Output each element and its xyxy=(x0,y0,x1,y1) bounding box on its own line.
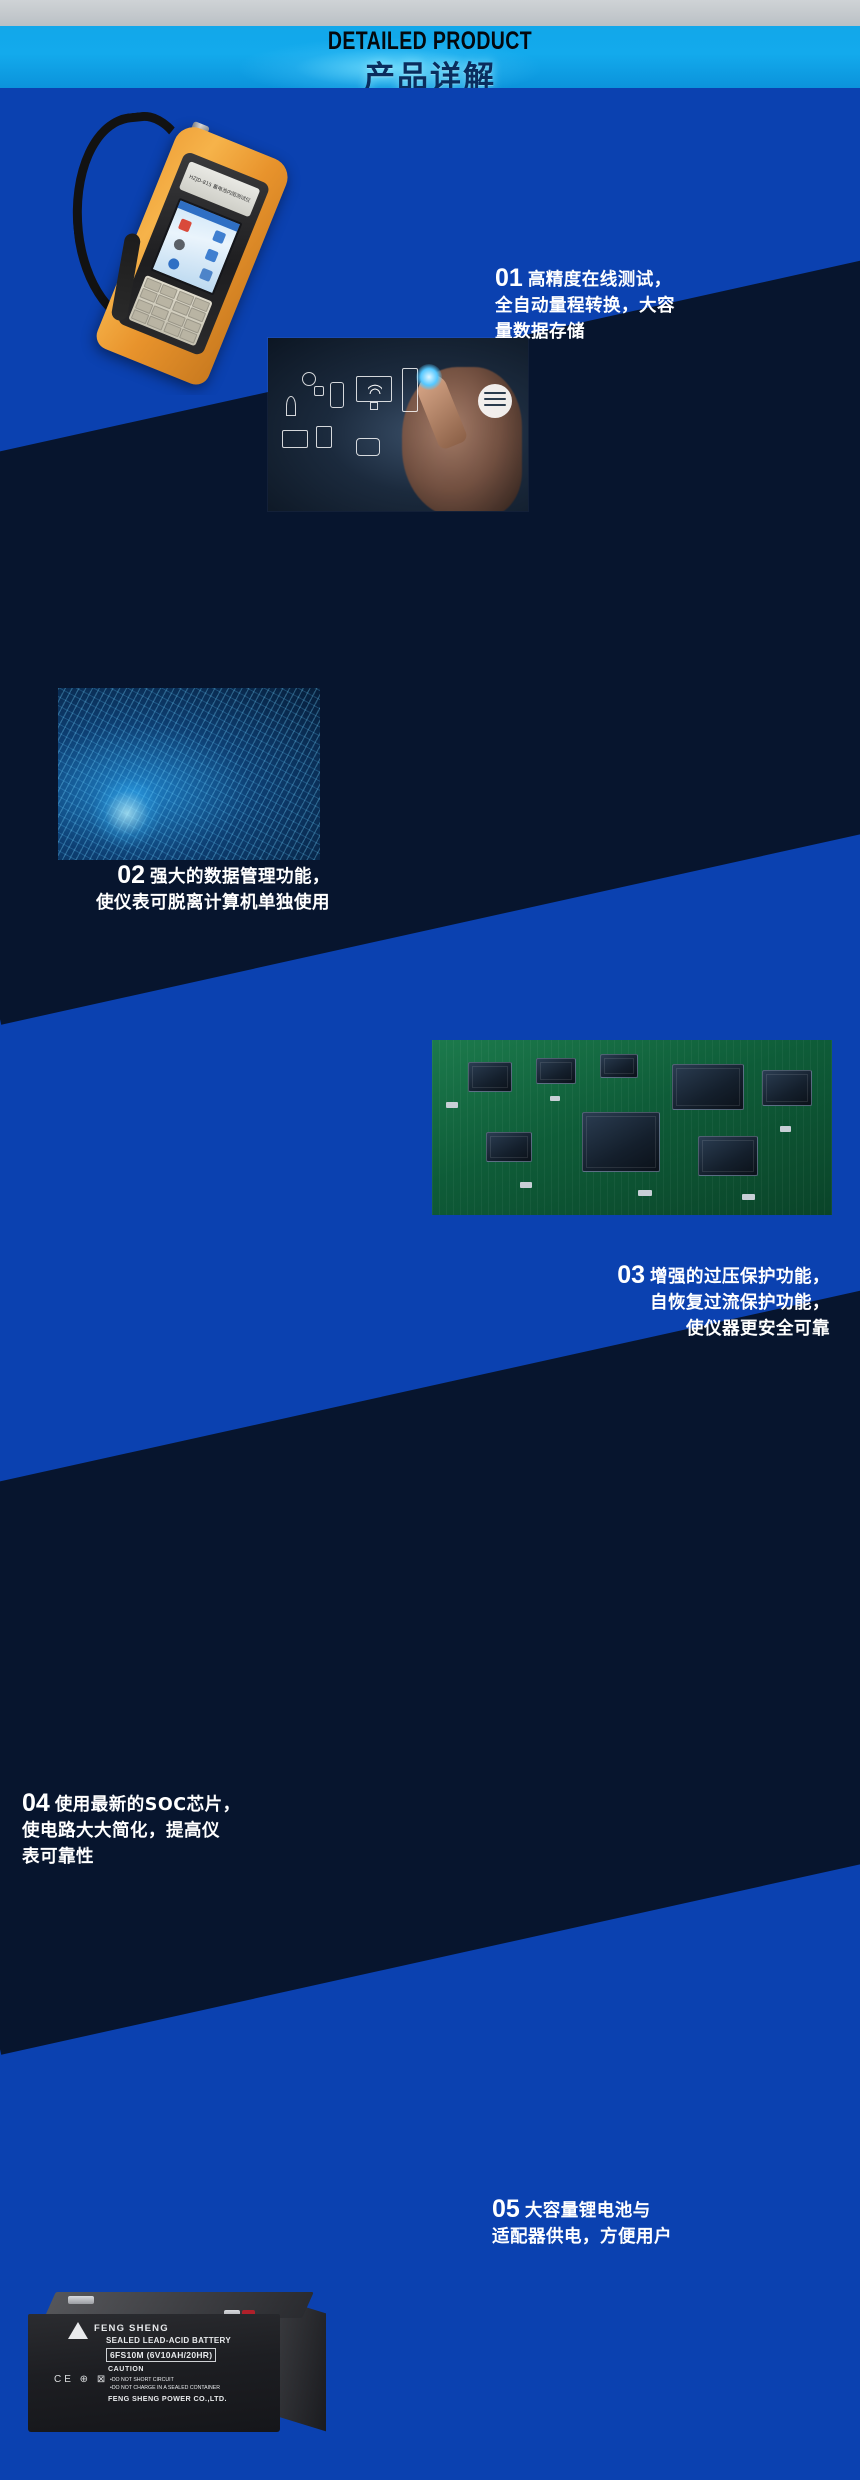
feature-02-line-1: 02强大的数据管理功能， xyxy=(10,862,330,890)
dark-band-lower xyxy=(0,1270,860,2055)
antenna-icon xyxy=(286,396,296,416)
battery-type: SEALED LEAD-ACID BATTERY xyxy=(106,2336,231,2345)
feng-sheng-logo-icon xyxy=(68,2322,88,2339)
pcb-chip xyxy=(698,1136,758,1176)
image-network-touch-interface xyxy=(268,338,528,511)
battery-company: FENG SHENG POWER CO.,LTD. xyxy=(108,2394,227,2403)
feature-03-number: 03 xyxy=(617,1261,645,1289)
image-green-pcb-chips xyxy=(432,1040,832,1215)
phone-icon xyxy=(330,382,344,408)
feature-03-line-2: 自恢复过流保护功能， xyxy=(500,1290,830,1316)
feature-text-03: 03增强的过压保护功能， 自恢复过流保护功能， 使仪器更安全可靠 xyxy=(500,1262,830,1342)
circuit-glow xyxy=(92,778,162,848)
screen-icon-data xyxy=(172,237,186,251)
feature-text-01: 01高精度在线测试， 全自动量程转换，大容 量数据存储 xyxy=(495,265,675,345)
feature-05-number: 05 xyxy=(492,2195,520,2223)
feature-03-line-1: 03增强的过压保护功能， xyxy=(500,1262,830,1290)
banner-title-chinese: 产品详解 xyxy=(0,52,860,88)
battery-brand: FENG SHENG xyxy=(94,2323,169,2334)
pcb-resistor xyxy=(520,1182,532,1188)
image-lead-acid-battery: FENG SHENG SEALED LEAD-ACID BATTERY 6FS1… xyxy=(28,2292,328,2447)
pcb-resistor xyxy=(446,1102,458,1108)
menu-line-icon xyxy=(484,404,506,406)
monitor-stand-icon xyxy=(370,402,378,410)
feature-01-line-2: 全自动量程转换，大容 xyxy=(495,293,675,319)
pcb-resistor xyxy=(638,1190,652,1196)
pcb-chip-processor xyxy=(582,1112,660,1172)
screen-icon-tools xyxy=(199,268,213,282)
pcb-chip xyxy=(536,1058,576,1084)
pcb-resistor xyxy=(742,1194,755,1200)
feature-05-line-2: 适配器供电，方便用户 xyxy=(492,2224,672,2250)
battery-caution-title: CAUTION xyxy=(108,2366,144,2373)
battery-terminal-negative xyxy=(68,2296,94,2304)
pcb-chip xyxy=(486,1132,532,1162)
top-gray-strip xyxy=(0,0,860,26)
tablet-icon xyxy=(316,426,332,448)
menu-line-icon xyxy=(484,392,506,394)
laptop-icon xyxy=(282,430,308,448)
battery-model: 6FS10M (6V10AH/20HR) xyxy=(106,2348,216,2362)
battery-side-panel xyxy=(278,2299,326,2432)
feature-text-02: 02强大的数据管理功能， 使仪表可脱离计算机单独使用 xyxy=(10,862,330,916)
battery-warning-1: •DO NOT SHORT CIRCUIT xyxy=(110,2377,174,2383)
menu-line-icon xyxy=(484,398,506,400)
screen-icon-record xyxy=(205,248,219,262)
chat-bubble-icon xyxy=(356,438,380,456)
cloud-icon xyxy=(302,372,316,386)
battery-warning-2: •DO NOT CHARGE IN A SEALED CONTAINER xyxy=(110,2385,220,2391)
screen-icon-test xyxy=(178,218,192,232)
battery-front-label: FENG SHENG SEALED LEAD-ACID BATTERY 6FS1… xyxy=(28,2314,280,2432)
pcb-chip-large xyxy=(672,1064,744,1110)
pcb-chip xyxy=(600,1054,638,1078)
pcb-chip xyxy=(762,1070,812,1106)
battery-cert-marks-icon: CE ⊕ ⊠ xyxy=(54,2374,108,2385)
feature-05-line-1: 05大容量锂电池与 xyxy=(492,2196,672,2224)
feature-text-05: 05大容量锂电池与 适配器供电，方便用户 xyxy=(492,2196,672,2250)
pcb-resistor xyxy=(780,1126,791,1132)
feature-04-line-3: 表可靠性 xyxy=(22,1844,241,1870)
feature-04-line-1: 04使用最新的SOC芯片， xyxy=(22,1790,241,1818)
page-banner: DETAILED PRODUCT 产品详解 xyxy=(0,26,860,88)
screen-icon-system xyxy=(167,257,181,271)
feature-02-line-2: 使仪表可脱离计算机单独使用 xyxy=(10,890,330,916)
feature-04-number: 04 xyxy=(22,1789,50,1817)
feature-01-line-1: 01高精度在线测试， xyxy=(495,265,675,293)
feature-01-number: 01 xyxy=(495,264,523,292)
screen-icon-settings xyxy=(212,230,226,244)
wifi-icon xyxy=(368,382,382,394)
feature-text-04: 04使用最新的SOC芯片， 使电路大大简化，提高仪 表可靠性 xyxy=(22,1790,241,1870)
menu-bubble-icon xyxy=(478,384,512,418)
pcb-chip xyxy=(468,1062,512,1092)
tester-screen xyxy=(150,198,242,296)
image-blue-circuit-board xyxy=(58,688,320,860)
feature-03-line-3: 使仪器更安全可靠 xyxy=(500,1316,830,1342)
feature-04-line-2: 使电路大大简化，提高仪 xyxy=(22,1818,241,1844)
feature-02-number: 02 xyxy=(117,861,145,889)
file-icon xyxy=(314,386,324,396)
pcb-resistor xyxy=(550,1096,560,1101)
touch-spark-icon xyxy=(416,364,442,390)
